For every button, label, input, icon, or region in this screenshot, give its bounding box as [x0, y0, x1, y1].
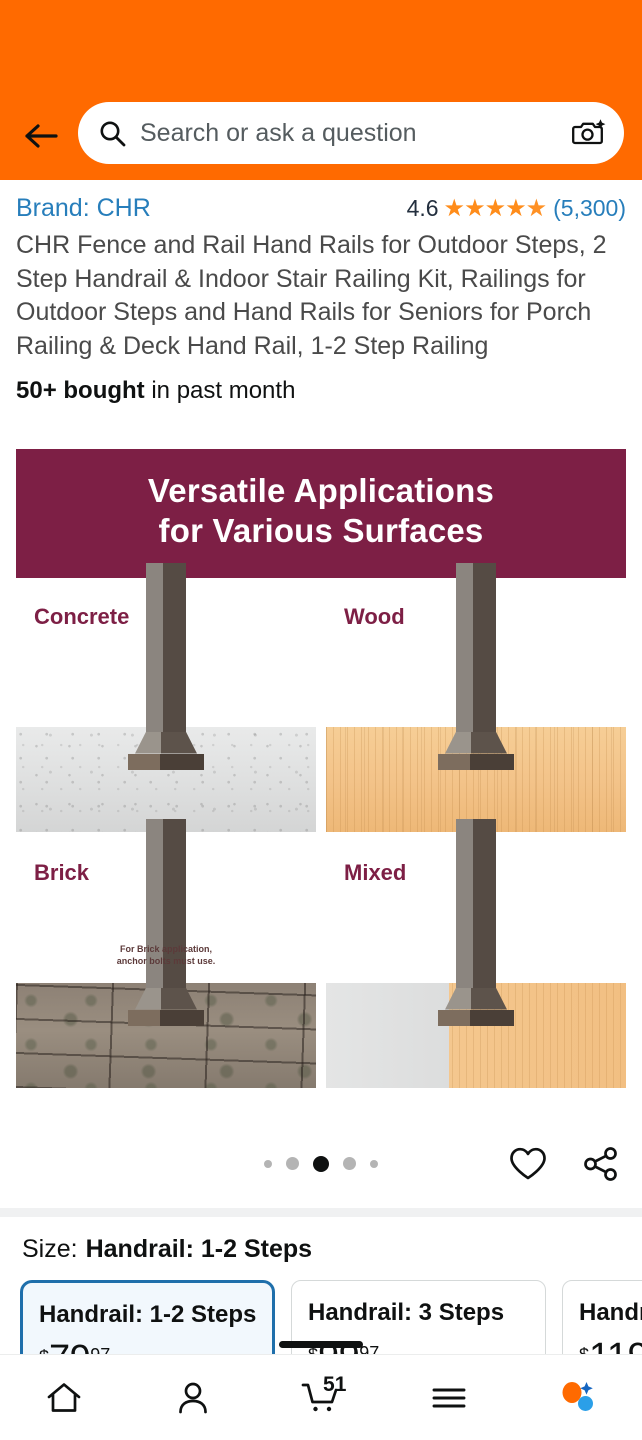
- product-info: Brand: CHR 4.6 ★★★★★ (5,300) CHR Fence a…: [0, 180, 642, 405]
- banner-line-2: for Various Surfaces: [26, 511, 616, 551]
- search-bar[interactable]: Search or ask a question: [78, 102, 624, 164]
- image-actions: [508, 1146, 620, 1182]
- surface-label: Mixed: [344, 860, 406, 886]
- carousel-dot[interactable]: [343, 1157, 356, 1170]
- surface-label: Wood: [344, 604, 405, 630]
- carousel-dot[interactable]: [370, 1160, 378, 1168]
- bottom-navigation-bar: 51: [0, 1354, 642, 1440]
- brick-note-line-1: For Brick application,: [117, 943, 216, 955]
- account-person-icon: [174, 1379, 212, 1417]
- product-image-carousel[interactable]: Versatile Applications for Various Surfa…: [0, 449, 642, 1088]
- carousel-dot[interactable]: [264, 1160, 272, 1168]
- brand-link[interactable]: Brand: CHR: [16, 194, 151, 223]
- rating-value: 4.6: [407, 195, 439, 222]
- rating-summary[interactable]: 4.6 ★★★★★ (5,300): [407, 194, 626, 223]
- heart-icon[interactable]: [508, 1146, 548, 1182]
- camera-lens-icon[interactable]: [572, 117, 606, 149]
- infographic-banner: Versatile Applications for Various Surfa…: [16, 449, 626, 578]
- carousel-controls: [0, 1134, 642, 1194]
- product-title: CHR Fence and Rail Hand Rails for Outdoo…: [16, 229, 626, 363]
- size-header: Size:Handrail: 1-2 Steps: [0, 1217, 642, 1264]
- home-indicator: [279, 1341, 363, 1348]
- rufus-assistant-icon: [555, 1378, 601, 1418]
- nav-account[interactable]: [128, 1355, 256, 1440]
- infographic-image: Versatile Applications for Various Surfa…: [16, 449, 626, 1088]
- surface-grid: Concrete Wood Brick For Bri: [16, 582, 626, 1088]
- surface-label: Concrete: [34, 604, 129, 630]
- nav-menu[interactable]: [385, 1355, 513, 1440]
- brick-note-line-2: anchor bolts must use.: [117, 955, 216, 967]
- carousel-dots[interactable]: [264, 1156, 378, 1172]
- surface-cell-wood: Wood: [326, 582, 626, 832]
- brick-anchor-note: For Brick application, anchor bolts must…: [117, 943, 216, 967]
- size-option-name: Handra: [579, 1299, 642, 1327]
- surface-cell-mixed: Mixed: [326, 838, 626, 1088]
- cart-count-badge: 51: [323, 1373, 346, 1397]
- product-detail-page: Search or ask a question Brand: CHR 4.6 …: [0, 0, 642, 1440]
- purchase-frequency-badge: 50+ bought in past month: [16, 377, 626, 405]
- nav-home[interactable]: [0, 1355, 128, 1440]
- size-option-name: Handrail: 1-2 Steps: [39, 1301, 256, 1329]
- section-divider: [0, 1208, 642, 1217]
- railing-post: [116, 563, 216, 770]
- surface-cell-concrete: Concrete: [16, 582, 316, 832]
- size-label: Size:: [22, 1235, 78, 1263]
- review-count-link[interactable]: (5,300): [553, 195, 626, 222]
- back-arrow-icon: [24, 123, 58, 149]
- size-selected-value: Handrail: 1-2 Steps: [86, 1235, 312, 1263]
- app-header: Search or ask a question: [0, 0, 642, 180]
- carousel-dot-active[interactable]: [313, 1156, 329, 1172]
- railing-post: [426, 819, 526, 1026]
- size-option-name: Handrail: 3 Steps: [308, 1299, 529, 1327]
- share-icon[interactable]: [582, 1146, 620, 1182]
- hamburger-menu-icon: [430, 1383, 468, 1413]
- brand-and-rating-row: Brand: CHR 4.6 ★★★★★ (5,300): [16, 190, 626, 223]
- bought-count: 50+ bought: [16, 377, 145, 404]
- surface-label: Brick: [34, 860, 89, 886]
- bought-period: in past month: [145, 377, 296, 404]
- star-rating-icon: ★★★★★: [444, 194, 547, 223]
- back-button[interactable]: [18, 108, 64, 164]
- railing-post: [426, 563, 526, 770]
- search-icon: [98, 119, 126, 147]
- nav-rufus-assistant[interactable]: [514, 1355, 642, 1440]
- home-icon: [45, 1379, 83, 1417]
- search-input[interactable]: Search or ask a question: [140, 119, 558, 148]
- banner-line-1: Versatile Applications: [26, 471, 616, 511]
- nav-cart[interactable]: 51: [257, 1355, 385, 1440]
- surface-cell-brick: Brick For Brick application, anchor bolt…: [16, 838, 316, 1088]
- carousel-dot[interactable]: [286, 1157, 299, 1170]
- railing-post: [116, 819, 216, 1026]
